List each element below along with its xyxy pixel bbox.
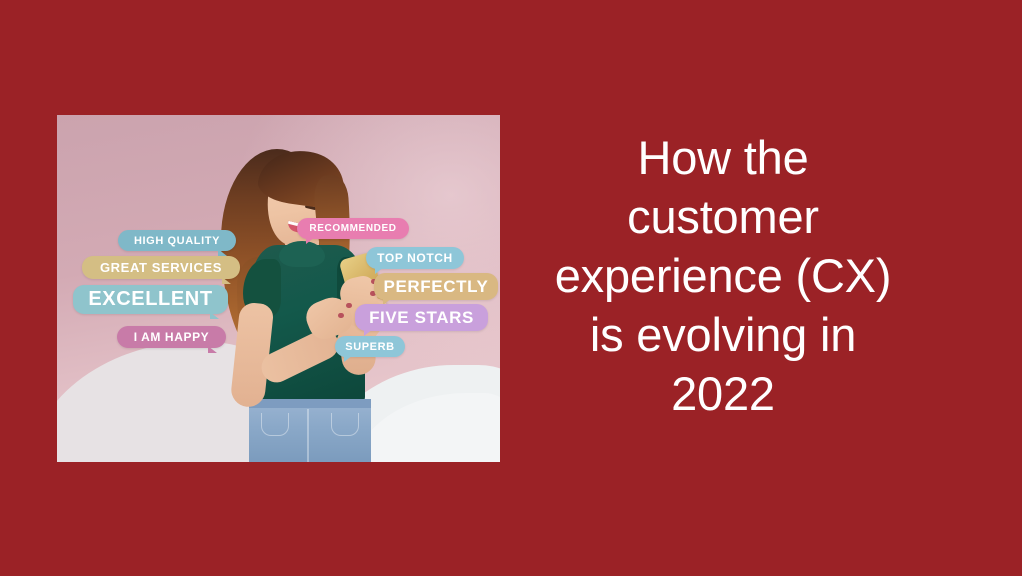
review-badge-label: SUPERB <box>345 341 394 353</box>
review-badge-label: FIVE STARS <box>369 308 474 328</box>
jeans-seam <box>307 409 309 462</box>
headline-line-4: is evolving in <box>520 305 926 364</box>
review-badge-label: EXCELLENT <box>88 288 212 311</box>
headline-line-3: experience (CX) <box>520 246 926 305</box>
review-badge-label: RECOMMENDED <box>309 223 396 234</box>
review-badge: TOP NOTCH <box>366 247 464 269</box>
slide-canvas: HIGH QUALITYGREAT SERVICESEXCELLENTI AM … <box>0 0 1022 576</box>
review-badge: I AM HAPPY <box>117 326 226 348</box>
jeans-pocket-right <box>331 413 359 436</box>
review-badge: HIGH QUALITY <box>118 230 236 251</box>
review-badge: PERFECTLY <box>374 273 498 300</box>
headline-line-2: customer <box>520 187 926 246</box>
review-badge: EXCELLENT <box>73 285 228 314</box>
review-badge-label: PERFECTLY <box>384 277 489 297</box>
jeans-waistband <box>249 399 371 408</box>
fingernail <box>346 303 352 308</box>
page-title: How the customer experience (CX) is evol… <box>520 128 926 423</box>
headline-line-1: How the <box>520 128 926 187</box>
headline-line-5: 2022 <box>520 364 926 423</box>
review-badge: RECOMMENDED <box>297 218 409 239</box>
review-badge-label: GREAT SERVICES <box>100 260 222 275</box>
fingernail <box>338 313 344 318</box>
review-badge-label: TOP NOTCH <box>377 251 453 265</box>
review-badge-label: I AM HAPPY <box>134 330 210 344</box>
review-badge: FIVE STARS <box>355 304 488 331</box>
mock-neck-collar <box>279 241 325 267</box>
review-badge: GREAT SERVICES <box>82 256 240 279</box>
review-badge-label: HIGH QUALITY <box>134 235 220 247</box>
review-badge: SUPERB <box>335 336 405 357</box>
hero-photo: HIGH QUALITYGREAT SERVICESEXCELLENTI AM … <box>57 115 500 462</box>
jeans-pocket-left <box>261 413 289 436</box>
